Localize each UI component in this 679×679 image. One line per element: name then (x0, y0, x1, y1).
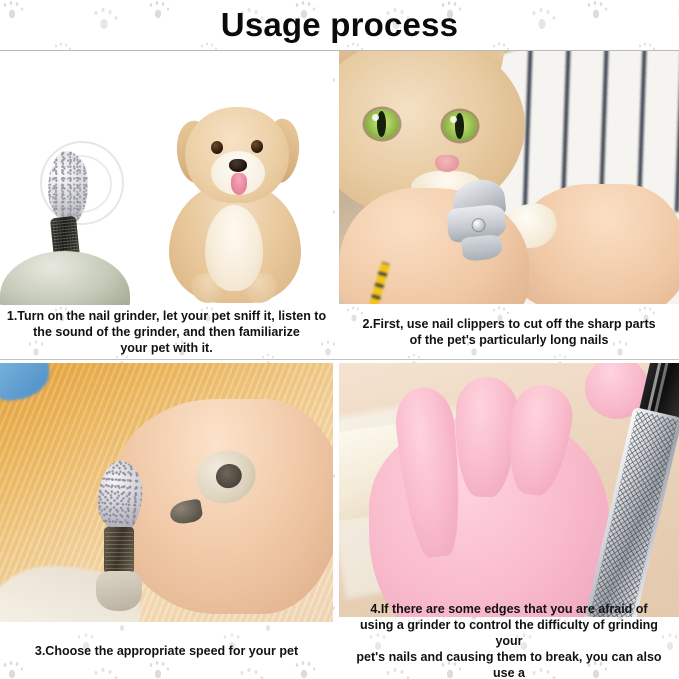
page-title: Usage process (221, 8, 458, 41)
step-1-caption: 1.Turn on the nail grinder, let your pet… (0, 305, 333, 359)
puppy-eye-left (211, 141, 223, 154)
puppy-eye-right (251, 140, 263, 153)
step-card-3: 3.Choose the appropriate speed for your … (0, 363, 333, 679)
step-1-caption-line-1: 1.Turn on the nail grinder, let your pet… (7, 308, 326, 324)
step-4-caption-line-1: 4.If there are some edges that you are a… (345, 601, 673, 617)
step-card-1: 1.Turn on the nail grinder, let your pet… (0, 51, 333, 359)
step-4-caption-line-3: pet's nails and causing them to break, y… (345, 649, 673, 679)
step-1-caption-line-2: the sound of the grinder, and then famil… (7, 324, 326, 340)
usage-process-infographic: Usage process (0, 0, 679, 679)
step-3-caption-line-1: 3.Choose the appropriate speed for your … (35, 643, 298, 659)
step-3-caption: 3.Choose the appropriate speed for your … (0, 622, 333, 679)
step-4-caption: 4.If there are some edges that you are a… (339, 617, 679, 679)
step-2-caption: 2.First, use nail clippers to cut off th… (339, 304, 679, 359)
step-4-caption-line-2: using a grinder to control the difficult… (345, 617, 673, 649)
cat-eye-glint-left (372, 114, 379, 121)
grinding-stone (96, 460, 145, 535)
cat-eye-left (365, 109, 399, 139)
nail-clipper-icon (443, 177, 517, 261)
grinder-body (96, 571, 142, 611)
nail-grinder-icon (92, 461, 154, 611)
horizontal-divider (0, 359, 679, 360)
cat-eye-right (443, 111, 477, 141)
puppy-photo-subject (155, 105, 311, 303)
puppy-tongue (231, 173, 247, 195)
step-2-caption-line-1: 2.First, use nail clippers to cut off th… (362, 316, 655, 332)
step-2-photo (339, 51, 679, 304)
grinding-stone (48, 151, 88, 223)
title-bar: Usage process (0, 0, 679, 51)
step-1-caption-line-3: your pet with it. (7, 340, 326, 356)
puppy-nose (229, 159, 247, 172)
puppy-chest (205, 205, 263, 291)
step-3-photo (0, 363, 333, 622)
nail-grinder-icon (34, 125, 96, 305)
step-4-photo (339, 363, 679, 617)
cat-eye-glint-right (450, 116, 457, 123)
step-card-2: 2.First, use nail clippers to cut off th… (339, 51, 679, 359)
step-1-photo (0, 51, 333, 305)
grinder-body (0, 251, 130, 305)
step-2-caption-line-2: of the pet's particularly long nails (362, 332, 655, 348)
grinder-collar (104, 527, 134, 575)
cat-nose (435, 155, 459, 172)
step-card-4: 4.If there are some edges that you are a… (339, 363, 679, 679)
